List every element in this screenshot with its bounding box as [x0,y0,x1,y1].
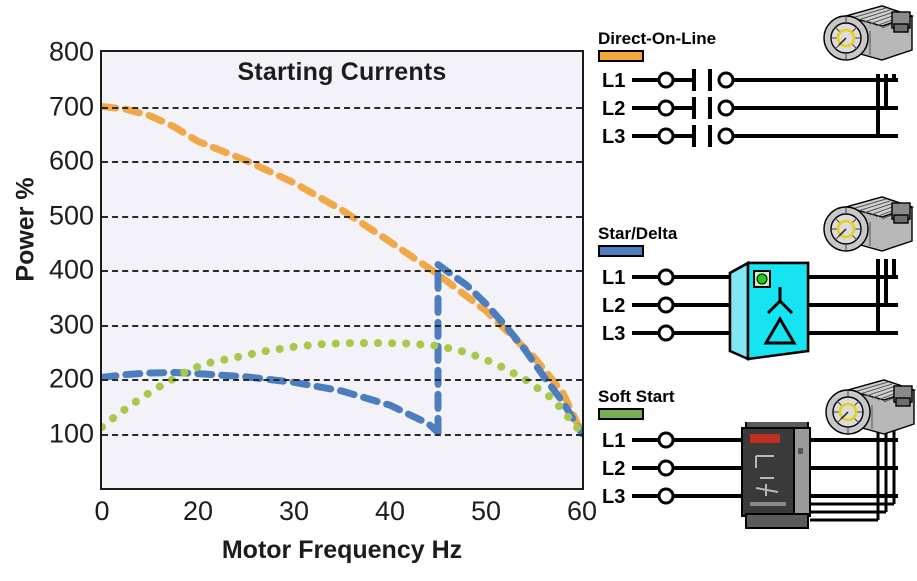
line-label-L3: L3 [602,486,625,508]
wiring-diagram-star-delta: L1 L2 L3 [598,259,917,369]
legend-block-direct-on-line: Direct-On-Line L1 L2 L3 [598,30,917,62]
x-tick-40: 40 [375,496,405,527]
brand-badge [750,434,780,443]
y-tick-800: 800 [49,37,94,68]
gridline-100 [102,434,582,436]
motor-soft-start [822,378,917,457]
line-label-L1: L1 [602,430,625,452]
gridline-400 [102,270,582,272]
line-label-L2: L2 [602,98,625,120]
chart-title: Starting Currents [102,58,582,87]
soft-starter-unit [742,422,810,528]
plot-inner [102,52,582,488]
legend-swatch-soft-start [598,408,644,420]
motor-icon [822,378,917,452]
y-axis-labels: 100200300400500600700800 [0,0,100,581]
x-tick-0: 0 [94,496,109,527]
y-tick-200: 200 [49,364,94,395]
starting-currents-figure: 100200300400500600700800 Power % Startin… [0,0,917,581]
legend-swatch-star-delta [598,245,644,257]
line-label-L1: L1 [602,70,625,92]
y-tick-100: 100 [49,418,94,449]
motor-icon [820,195,916,269]
x-tick-20: 20 [183,496,213,527]
gridline-700 [102,107,582,109]
legend-block-soft-start: Soft Start L1 L2 L3 [598,388,917,420]
x-tick-60: 60 [567,496,597,527]
x-tick-50: 50 [471,496,501,527]
motor-direct-on-line [820,4,916,83]
x-tick-30: 30 [279,496,309,527]
line-label-L2: L2 [602,295,625,317]
y-tick-600: 600 [49,146,94,177]
x-axis-title: Motor Frequency Hz [100,536,584,565]
motor-star-delta [820,195,916,274]
indicator-lamp-icon [757,274,767,284]
line-label-L3: L3 [602,126,625,148]
plot-area: Starting Currents [100,50,584,490]
curve-star-delta-lower [102,373,438,433]
chart-panel: 100200300400500600700800 Power % Startin… [0,0,600,581]
y-axis-title: Power % [12,170,41,290]
gridline-300 [102,325,582,327]
line-label-L3: L3 [602,323,625,345]
line-label-L1: L1 [602,267,625,289]
line-label-L2: L2 [602,458,625,480]
y-tick-400: 400 [49,255,94,286]
y-tick-500: 500 [49,200,94,231]
star-delta-starter [730,263,808,359]
gridline-500 [102,216,582,218]
legend-swatch-direct-on-line [598,50,644,62]
y-tick-300: 300 [49,309,94,340]
gridline-600 [102,161,582,163]
gridline-200 [102,379,582,381]
motor-icon [820,4,916,78]
legend-block-star-delta: Star/Delta L1 L2 L3 [598,225,917,257]
y-tick-700: 700 [49,91,94,122]
